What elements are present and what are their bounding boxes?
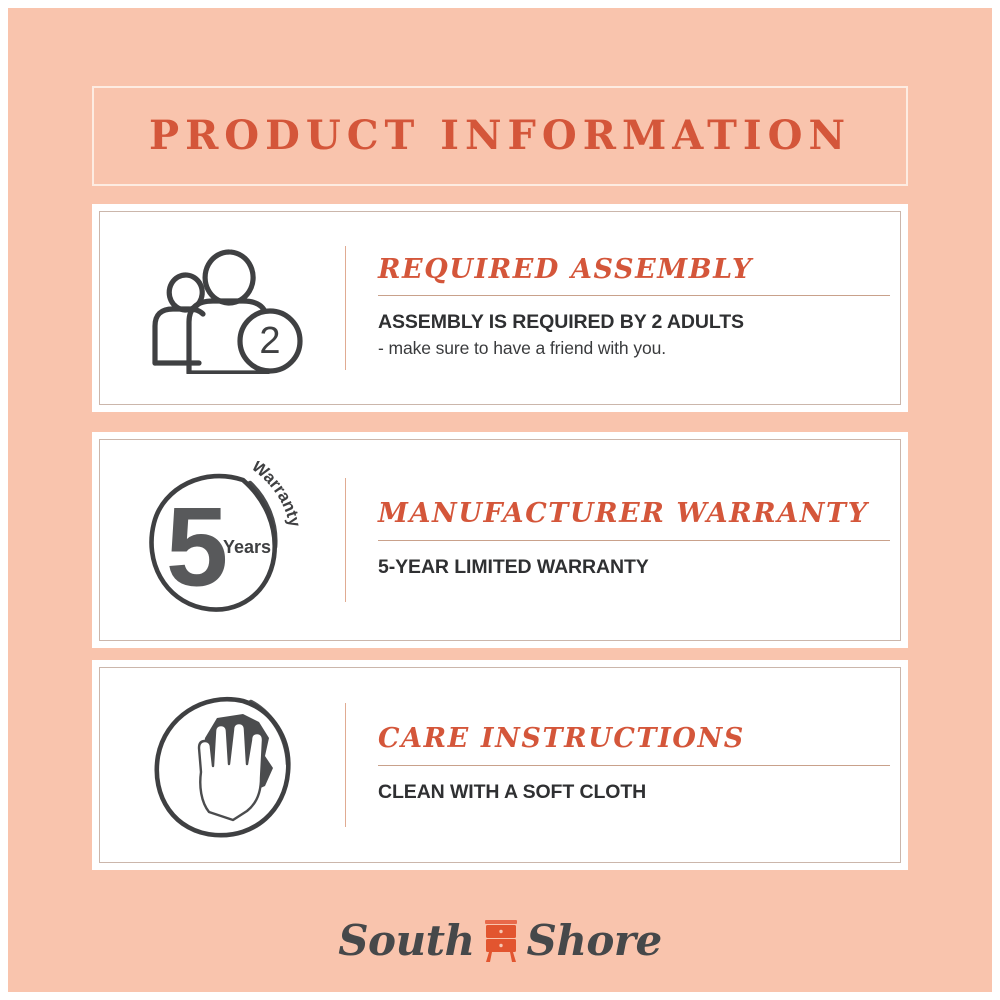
- icon-cell: 5 Years Warranty: [100, 440, 345, 640]
- peach-canvas: PRODUCT INFORMATION: [8, 8, 992, 992]
- icon-cell: [100, 668, 345, 862]
- info-card-inner: CARE INSTRUCTIONS CLEAN WITH A SOFT CLOT…: [99, 667, 901, 863]
- icon-cell: 2: [100, 212, 345, 404]
- card-heading-rule: [378, 295, 890, 296]
- card-heading: REQUIRED ASSEMBLY: [378, 256, 890, 284]
- card-heading-rule: [378, 540, 890, 541]
- hand-wiping-cloth-icon: [147, 690, 299, 840]
- card-text-cell: MANUFACTURER WARRANTY 5-YEAR LIMITED WAR…: [346, 440, 912, 640]
- card-heading: CARE INSTRUCTIONS: [378, 725, 890, 753]
- nightstand-dresser-icon: [481, 918, 521, 964]
- card-body-sub: - make sure to have a friend with you.: [378, 337, 890, 360]
- five-year-warranty-icon: 5 Years Warranty: [139, 461, 307, 619]
- card-text-cell: REQUIRED ASSEMBLY ASSEMBLY IS REQUIRED B…: [346, 212, 912, 404]
- warranty-years-label: Years: [222, 537, 270, 557]
- warranty-years-number: 5: [165, 485, 227, 610]
- card-body-main: 5-YEAR LIMITED WARRANTY: [378, 556, 890, 580]
- logo-word-south: South: [338, 920, 474, 962]
- two-people-assembly-icon: 2: [137, 242, 309, 374]
- south-shore-logo: South Shore: [8, 906, 992, 976]
- info-card-care-instructions: CARE INSTRUCTIONS CLEAN WITH A SOFT CLOT…: [92, 660, 908, 870]
- page-title: PRODUCT INFORMATION: [149, 116, 851, 156]
- info-card-manufacturer-warranty: 5 Years Warranty MANUFACTURER W: [92, 432, 908, 648]
- info-card-required-assembly: 2 REQUIRED ASSEMBLY ASSEMBLY IS REQUIRED…: [92, 204, 908, 412]
- card-heading: MANUFACTURER WARRANTY: [378, 500, 890, 528]
- logo-word-shore: Shore: [527, 920, 662, 962]
- card-heading-rule: [378, 765, 890, 766]
- assembly-people-count: 2: [259, 320, 280, 362]
- product-information-page: PRODUCT INFORMATION: [0, 0, 1000, 1000]
- info-card-inner: 2 REQUIRED ASSEMBLY ASSEMBLY IS REQUIRED…: [99, 211, 901, 405]
- page-title-banner: PRODUCT INFORMATION: [92, 86, 908, 186]
- info-card-inner: 5 Years Warranty MANUFACTURER W: [99, 439, 901, 641]
- card-text-cell: CARE INSTRUCTIONS CLEAN WITH A SOFT CLOT…: [346, 668, 912, 862]
- card-body-main: CLEAN WITH A SOFT CLOTH: [378, 781, 890, 805]
- card-body-main: ASSEMBLY IS REQUIRED BY 2 ADULTS: [378, 311, 890, 335]
